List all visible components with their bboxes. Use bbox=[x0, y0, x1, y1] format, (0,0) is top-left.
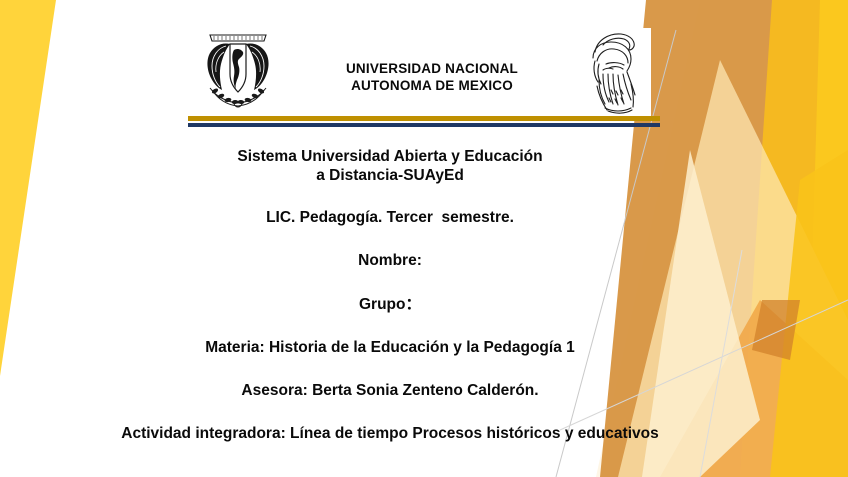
facet-amber-diagonal bbox=[770, 150, 848, 477]
header-rule-gold bbox=[188, 116, 660, 121]
text-line-carrera: LIC. Pedagogía. Tercer semestre. bbox=[60, 208, 720, 227]
left-yellow-wedge bbox=[0, 0, 56, 376]
slide-header: UNIVERSIDAD NACIONAL AUTONOMA DE MEXICO bbox=[188, 22, 660, 126]
university-title: UNIVERSIDAD NACIONAL AUTONOMA DE MEXICO bbox=[296, 60, 568, 94]
university-title-line1: UNIVERSIDAD NACIONAL bbox=[296, 60, 568, 77]
text-line-materia: Materia: Historia de la Educación y la P… bbox=[60, 338, 720, 357]
text-line-asesora: Asesora: Berta Sonia Zenteno Calderón. bbox=[60, 381, 720, 400]
facet-orange-dark-node bbox=[752, 300, 800, 360]
text-line-actividad: Actividad integradora: Línea de tiempo P… bbox=[60, 424, 720, 443]
facet-amber-right bbox=[740, 0, 848, 477]
university-title-line2: AUTONOMA DE MEXICO bbox=[296, 77, 568, 94]
header-rule-navy bbox=[188, 123, 660, 127]
text-line-sistema-1: Sistema Universidad Abierta y Educación bbox=[60, 147, 720, 166]
suayed-minerva-logo bbox=[573, 28, 651, 116]
presentation-slide: UNIVERSIDAD NACIONAL AUTONOMA DE MEXICO bbox=[0, 0, 848, 477]
facet-yellow-far-right bbox=[806, 0, 848, 477]
unam-shield-logo bbox=[196, 26, 280, 114]
text-line-grupo: Grupo： bbox=[60, 295, 720, 314]
text-line-sistema-2: a Distancia-SUAyEd bbox=[60, 166, 720, 185]
text-line-nombre: Nombre: bbox=[60, 251, 720, 270]
slide-body-text: Sistema Universidad Abierta y Educación … bbox=[60, 140, 720, 443]
